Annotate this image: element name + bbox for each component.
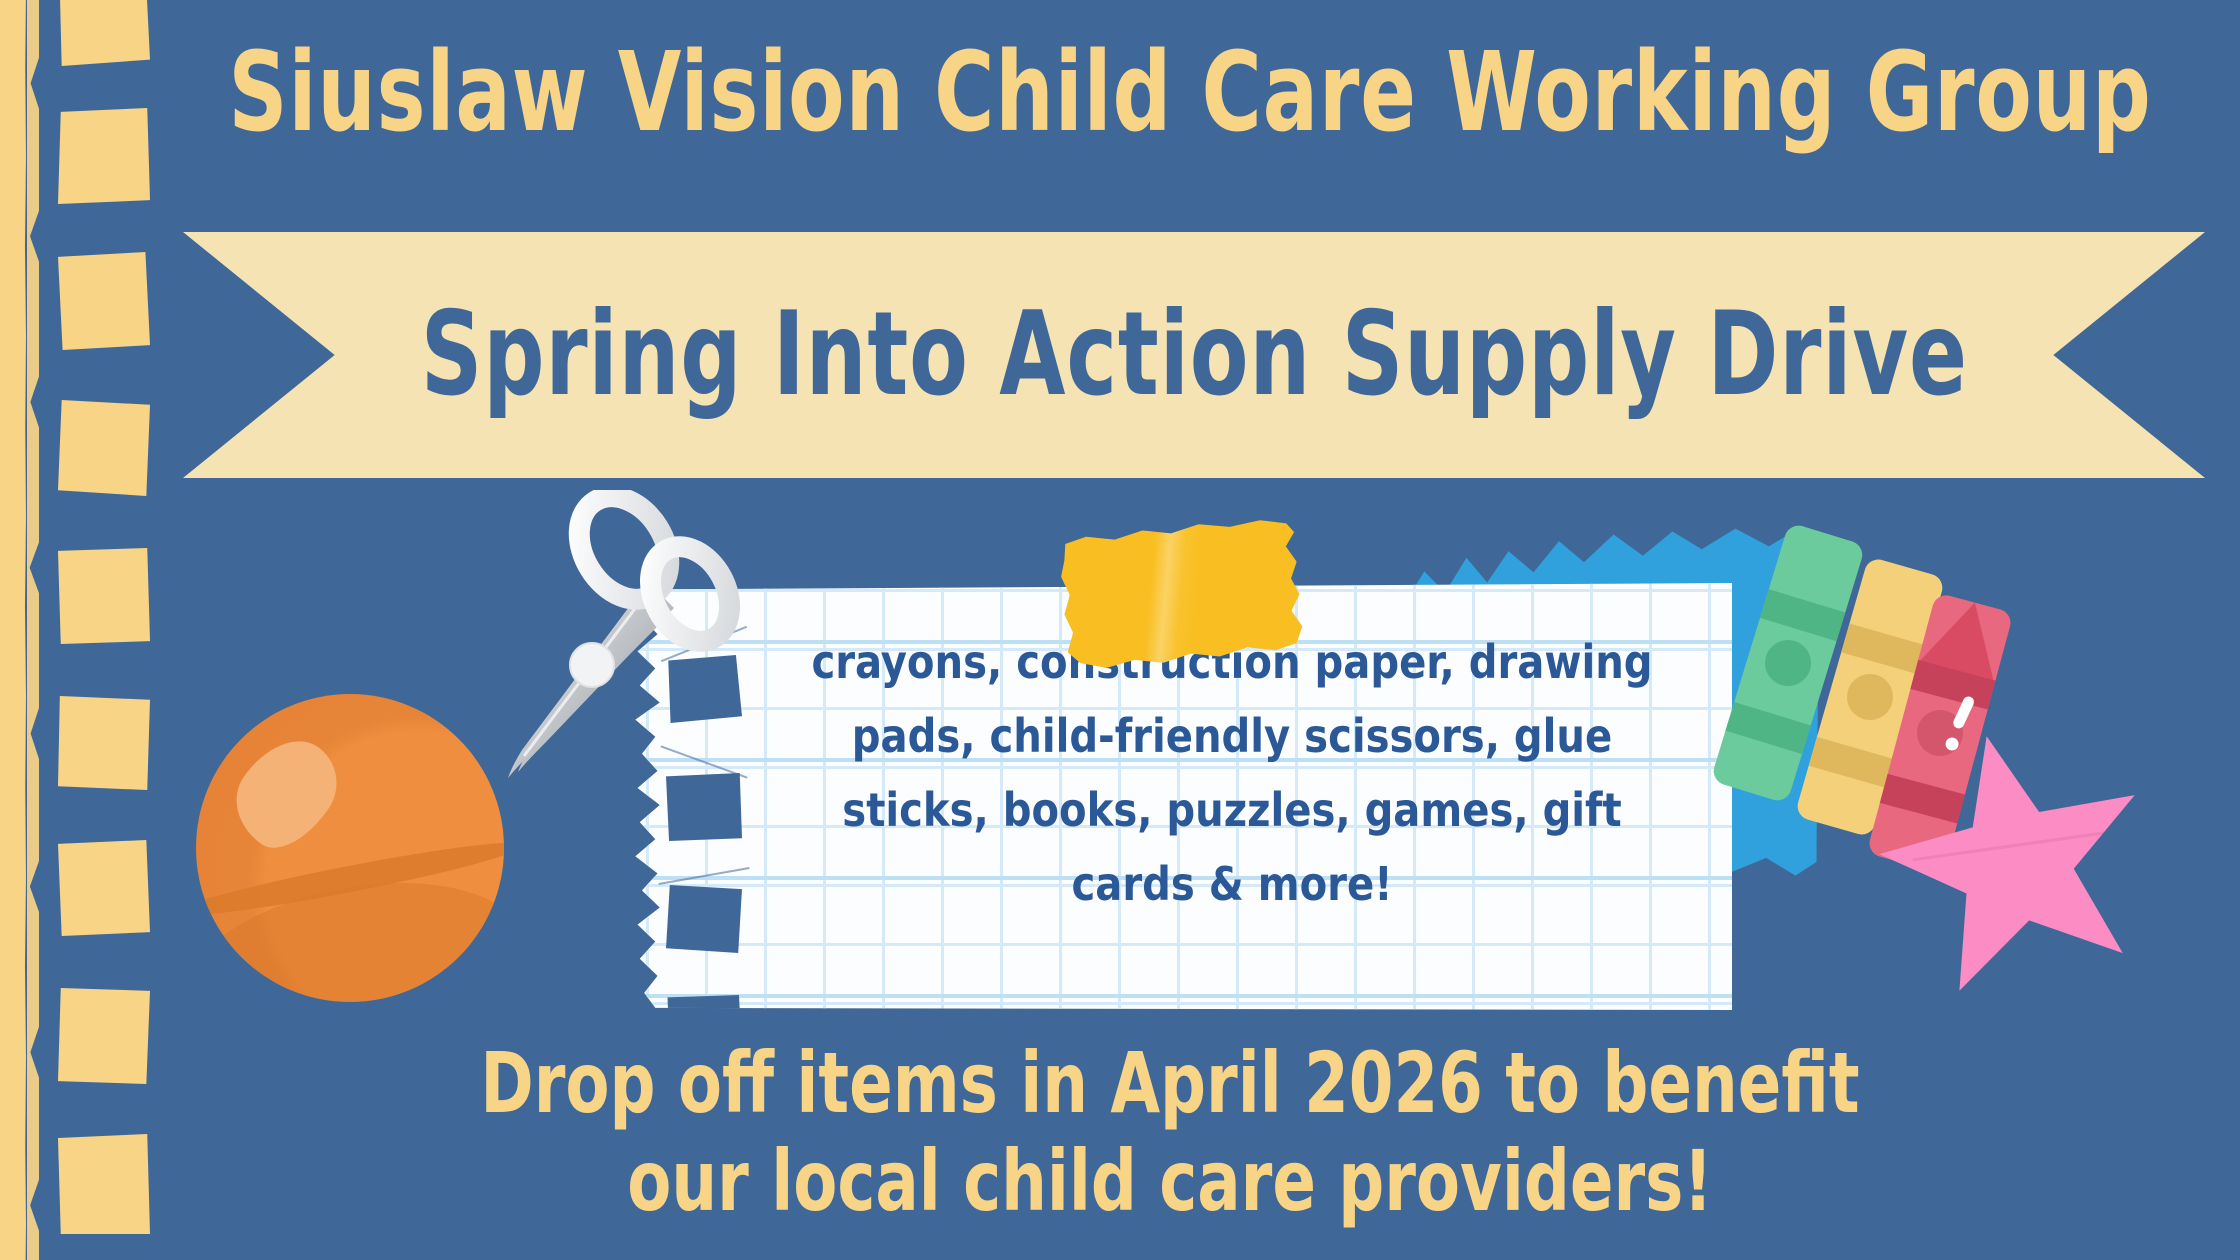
binder-hole-icon [666,885,742,953]
banner-ribbon: Spring Into Action Supply Drive [183,232,2205,478]
film-strip-square-icon [58,696,150,790]
scissors-icon [488,490,758,790]
film-strip-square-icon [58,108,150,204]
footer-line: our local child care providers! [320,1132,2020,1230]
banner-title: Spring Into Action Supply Drive [420,297,1967,413]
film-strip-edge-stripe-icon [0,0,26,1260]
footer-message: Drop off items in April 2026 to benefit … [320,1034,2020,1230]
supply-list-line: pads, child-friendly scissors, glue [786,699,1678,773]
footer-line: Drop off items in April 2026 to benefit [320,1034,2020,1132]
film-strip-square-icon [58,548,150,644]
ball-highlight [218,722,354,864]
film-strip-square-icon [58,400,150,496]
supply-list: crayons, construction paper, drawing pad… [786,625,1678,921]
poster-canvas: Siuslaw Vision Child Care Working Group … [0,0,2240,1260]
film-strip-inner-line-icon [27,0,39,1260]
supply-list-line: sticks, books, puzzles, games, gift [786,773,1678,847]
film-strip-square-icon [58,0,150,66]
organization-title: Siuslaw Vision Child Care Working Group [352,28,2029,156]
binder-hole-icon [666,995,742,1010]
paper-tear-line [659,867,750,885]
supply-list-line: cards & more! [786,847,1678,921]
washi-tape-icon [1058,516,1305,671]
film-strip-square-icon [58,988,150,1084]
film-strip-square-icon [58,252,150,350]
film-strip-square-icon [58,840,150,936]
playground-ball-icon [196,694,504,1002]
film-strip-border [0,0,165,1260]
film-strip-square-icon [58,1134,150,1234]
